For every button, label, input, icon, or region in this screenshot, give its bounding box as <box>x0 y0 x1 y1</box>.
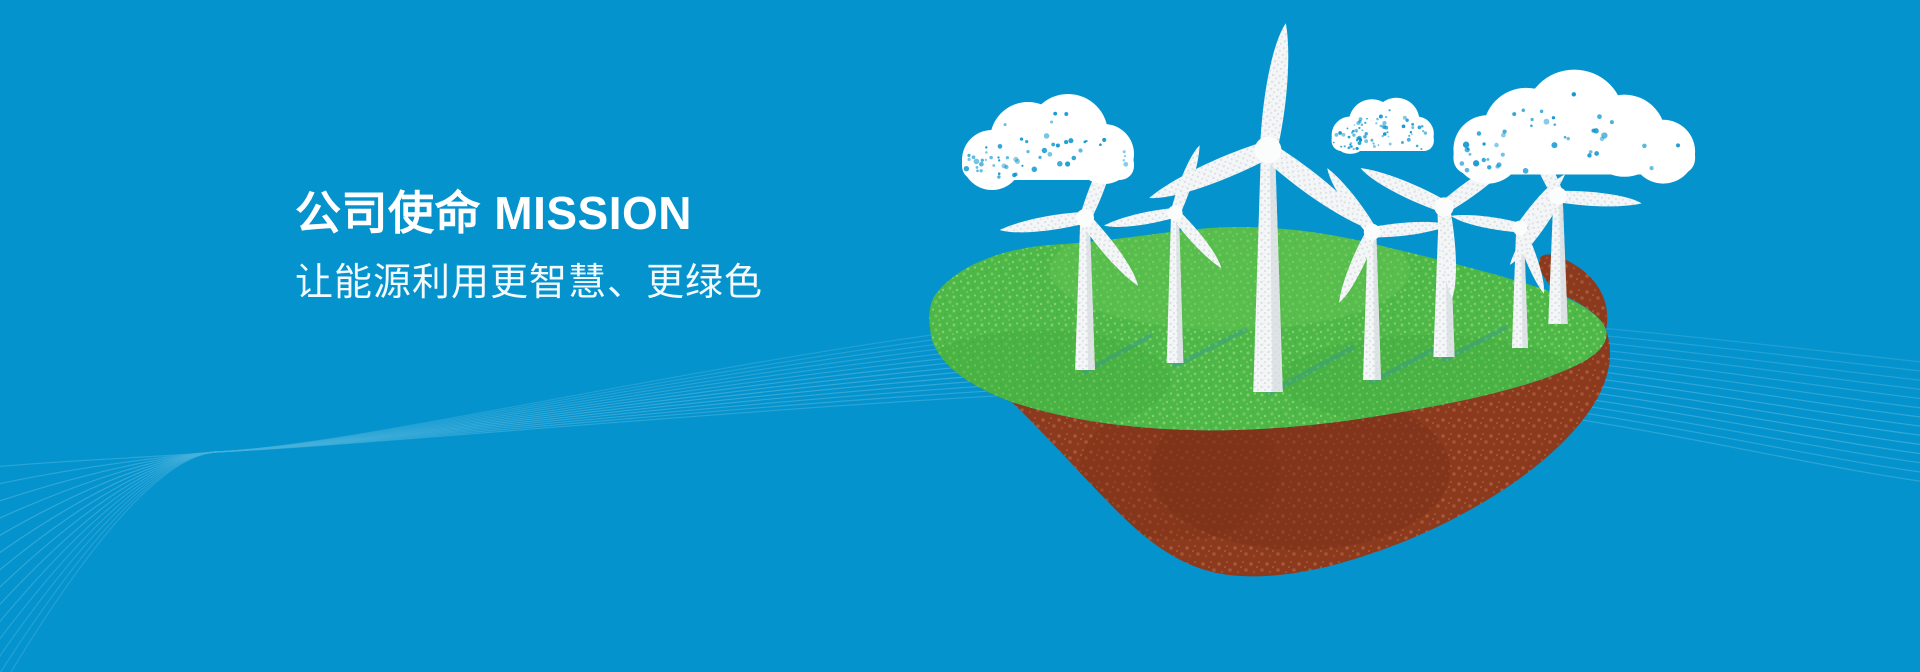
cloud-left <box>962 94 1134 190</box>
page-subtitle: 让能源利用更智慧、更绿色 <box>295 240 1055 308</box>
floating-island-illustration <box>0 0 1920 672</box>
mission-text-block: 公司使命 MISSION 让能源利用更智慧、更绿色 <box>295 186 1055 308</box>
turbine-hub <box>1255 137 1282 164</box>
mission-banner: 公司使命 MISSION 让能源利用更智慧、更绿色 <box>0 0 1920 672</box>
turbine-hub <box>1434 197 1453 216</box>
page-title: 公司使命 MISSION <box>295 186 1055 240</box>
turbine-hub <box>1364 224 1380 240</box>
cloud-mid <box>1332 98 1434 154</box>
turbine-hub <box>1167 205 1182 220</box>
turbine-hub <box>1549 187 1567 205</box>
turbine-hub <box>1076 209 1094 227</box>
cloud-right <box>1453 70 1695 184</box>
